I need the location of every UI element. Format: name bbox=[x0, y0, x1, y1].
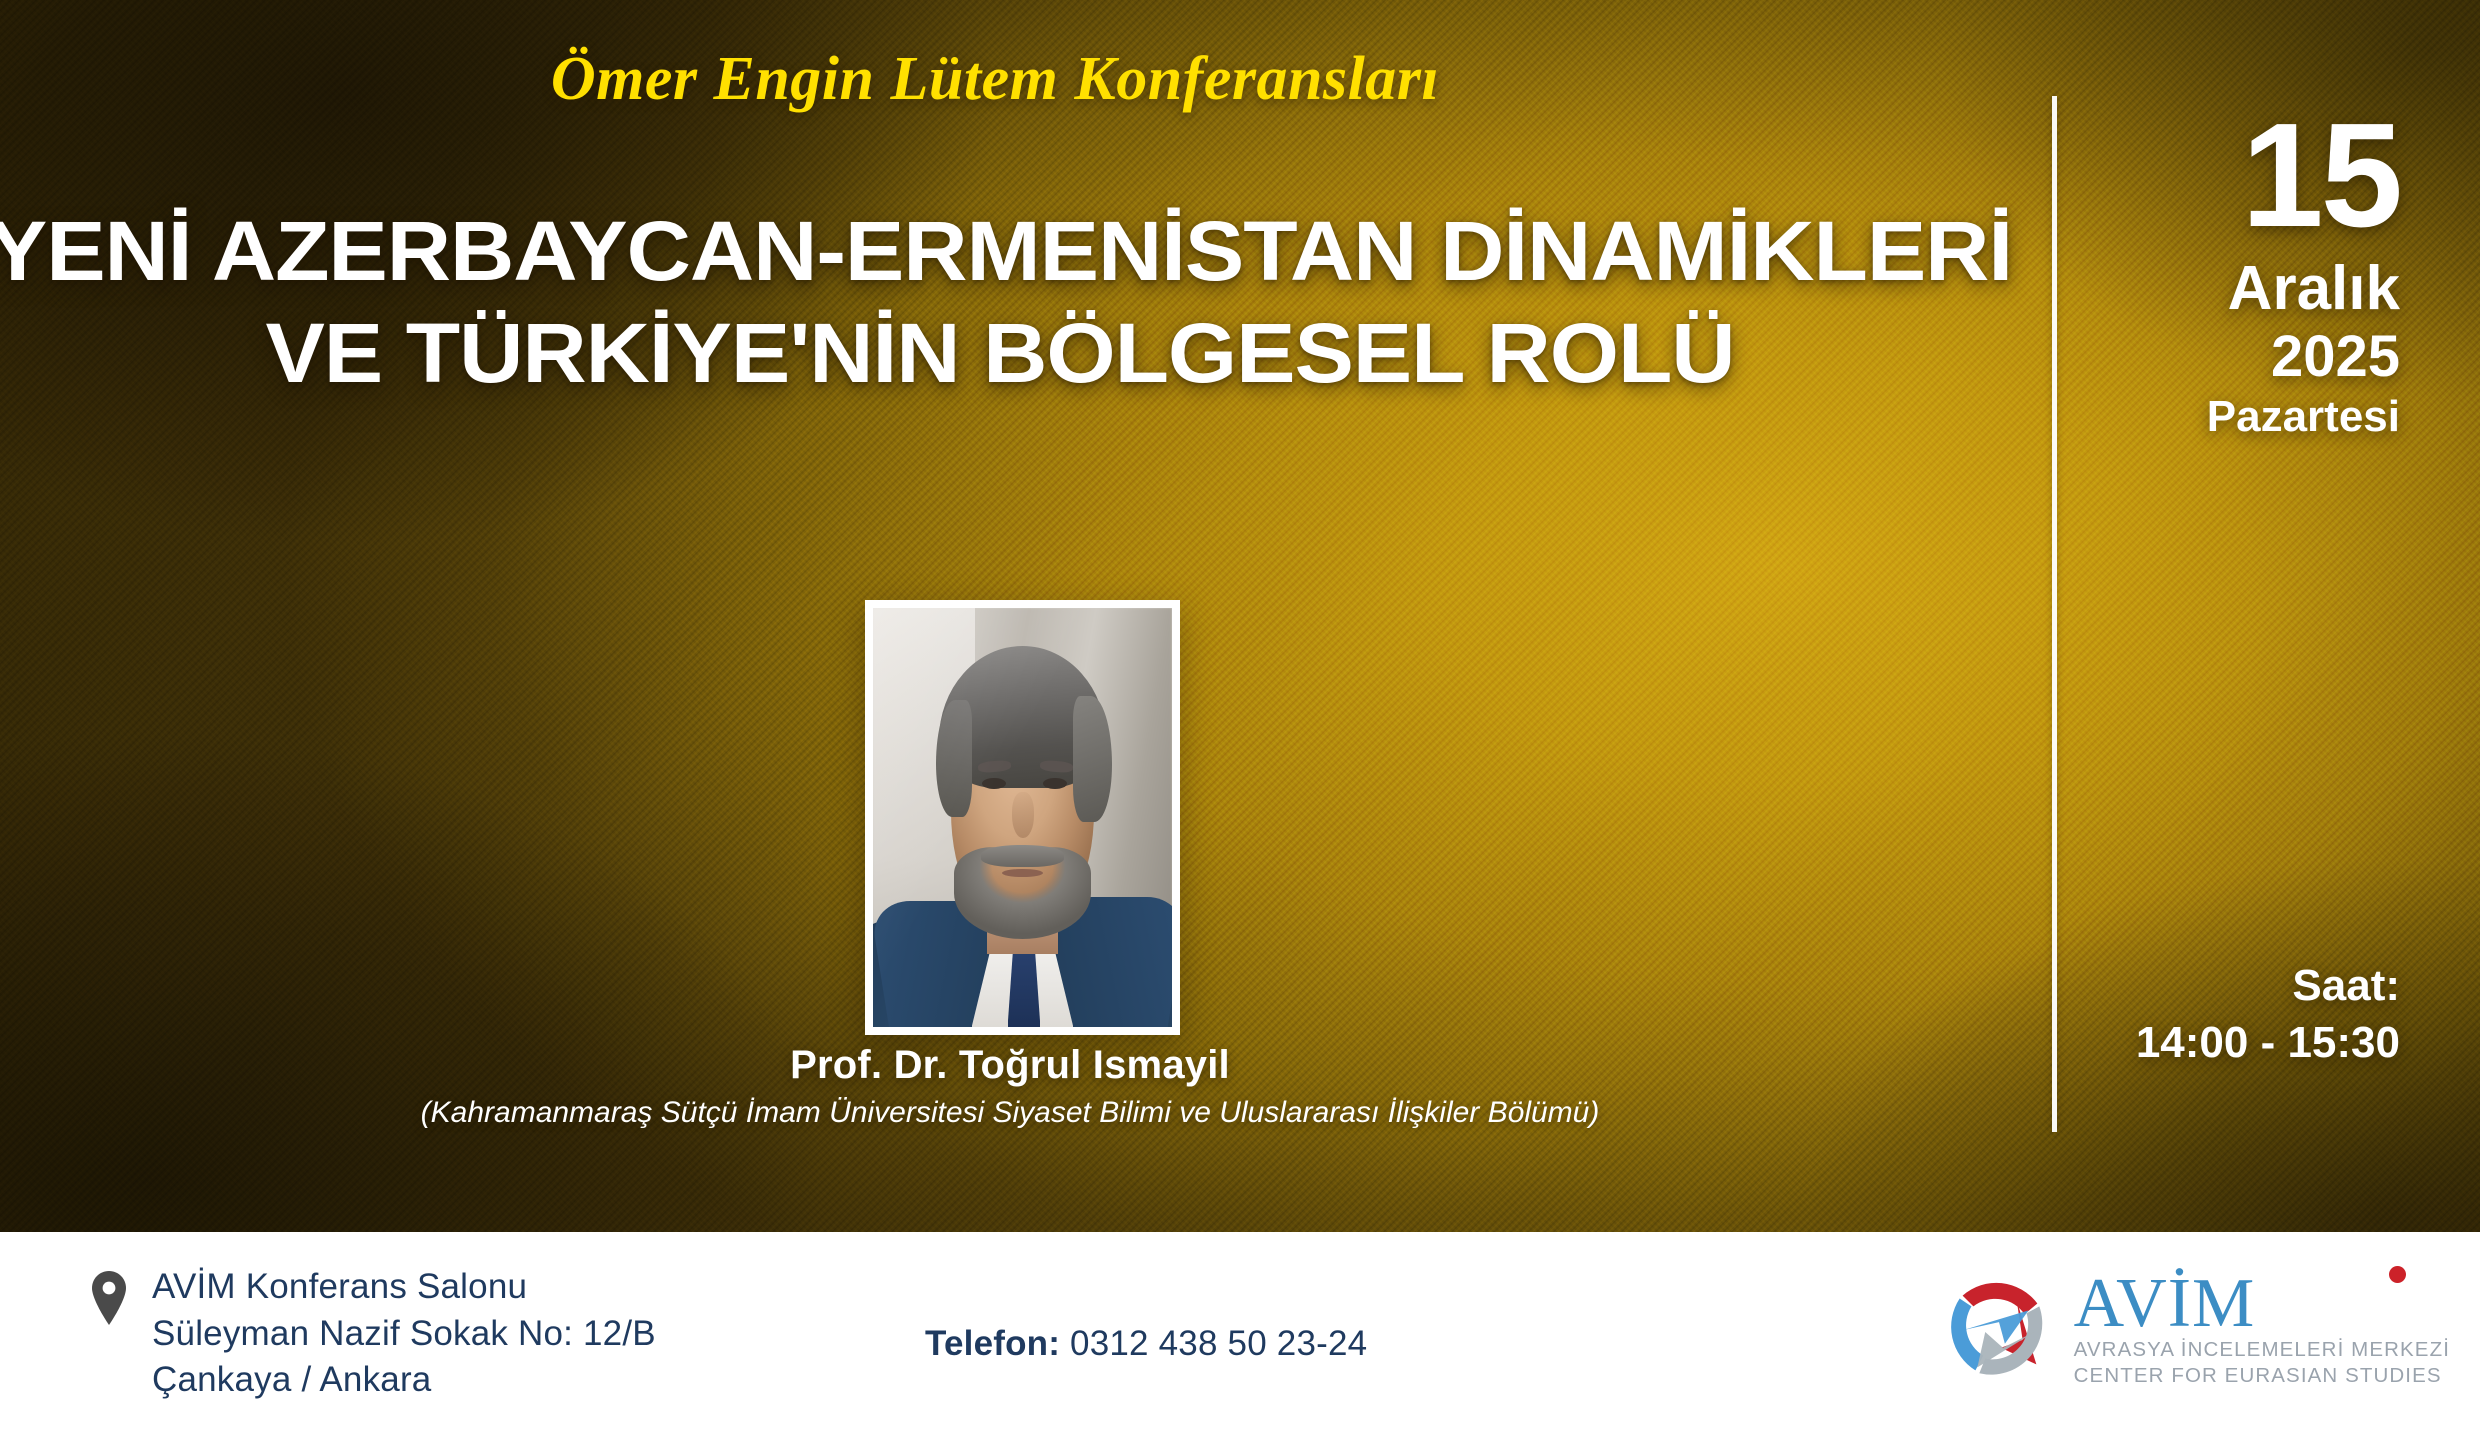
headline-line-2: VE TÜRKİYE'NİN BÖLGESEL ROLÜ bbox=[0, 302, 2060, 404]
venue-line-3: Çankaya / Ankara bbox=[152, 1357, 656, 1404]
event-date-block: 15 Aralık 2025 Pazartesi bbox=[2060, 108, 2400, 443]
avim-logo: AVİM AVRASYA İNCELEMELERİ MERKEZİ CENTER… bbox=[1940, 1270, 2450, 1390]
avim-wordmark: AVİM bbox=[2074, 1270, 2450, 1337]
date-weekday: Pazartesi bbox=[2060, 392, 2400, 443]
series-kicker: Ömer Engin Lütem Konferansları bbox=[0, 44, 1990, 115]
event-time-block: Saat: 14:00 - 15:30 bbox=[2000, 960, 2400, 1070]
venue-line-2: Süleyman Nazif Sokak No: 12/B bbox=[152, 1311, 656, 1358]
time-label: Saat: bbox=[2000, 960, 2400, 1013]
page-title: YENİ AZERBAYCAN-ERMENİSTAN DİNAMİKLERİ V… bbox=[0, 200, 2060, 405]
phone-number: 0312 438 50 23-24 bbox=[1070, 1324, 1367, 1363]
speaker-portrait-image bbox=[873, 608, 1172, 1027]
speaker-photo-frame bbox=[865, 600, 1180, 1035]
portrait-light-sheen bbox=[873, 608, 1172, 1027]
event-poster: Ömer Engin Lütem Konferansları YENİ AZER… bbox=[0, 0, 2480, 1441]
venue-block: AVİM Konferans Salonu Süleyman Nazif Sok… bbox=[88, 1264, 656, 1404]
avim-wordmark-dot-icon bbox=[2389, 1266, 2406, 1283]
date-month: Aralık bbox=[2060, 252, 2400, 325]
avim-tagline-en: CENTER FOR EURASIAN STUDIES bbox=[2074, 1363, 2450, 1389]
avim-logo-mark-icon bbox=[1940, 1271, 2058, 1389]
contact-phone: Telefon: 0312 438 50 23-24 bbox=[925, 1324, 1367, 1364]
headline-line-1: YENİ AZERBAYCAN-ERMENİSTAN DİNAMİKLERİ bbox=[0, 200, 2060, 302]
avim-wordmark-label: AVİM bbox=[2074, 1265, 2256, 1342]
speaker-name: Prof. Dr. Toğrul Ismayil bbox=[0, 1043, 2020, 1088]
venue-line-1: AVİM Konferans Salonu bbox=[152, 1264, 656, 1311]
speaker-affiliation: (Kahramanmaraş Sütçü İmam Üniversitesi S… bbox=[0, 1096, 2020, 1130]
phone-label: Telefon: bbox=[925, 1324, 1060, 1363]
time-value: 14:00 - 15:30 bbox=[2000, 1017, 2400, 1070]
poster-footer: AVİM Konferans Salonu Süleyman Nazif Sok… bbox=[0, 1232, 2480, 1441]
date-day: 15 bbox=[2060, 108, 2400, 244]
location-pin-icon bbox=[88, 1270, 130, 1326]
avim-logo-text: AVİM AVRASYA İNCELEMELERİ MERKEZİ CENTER… bbox=[2074, 1270, 2450, 1390]
venue-address: AVİM Konferans Salonu Süleyman Nazif Sok… bbox=[152, 1264, 656, 1404]
date-year: 2025 bbox=[2060, 325, 2400, 390]
